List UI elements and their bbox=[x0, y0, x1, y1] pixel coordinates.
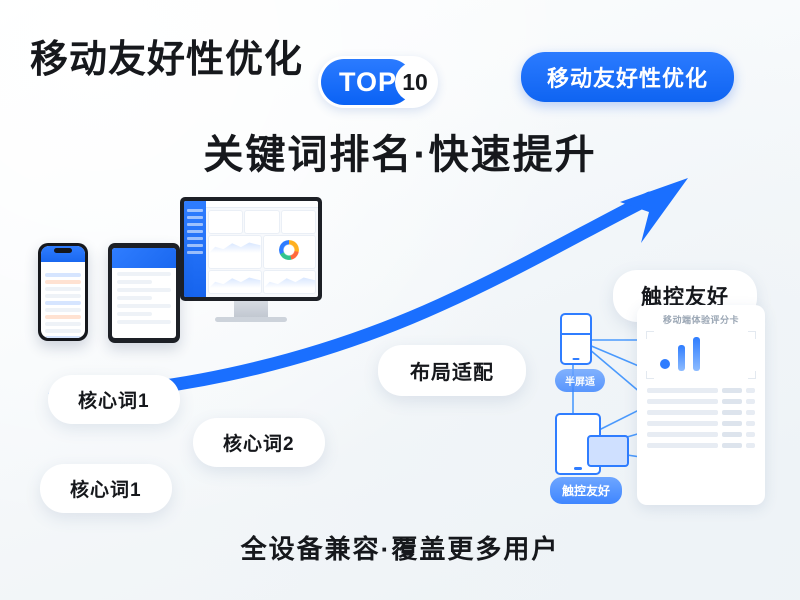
callout-layout: 布局适配 bbox=[378, 345, 526, 396]
top-rank-badge: TOP 10 bbox=[318, 56, 438, 108]
phone-mockup bbox=[38, 243, 88, 341]
device-mockups bbox=[20, 185, 340, 385]
diagram-pill-bottom: 触控友好 bbox=[550, 477, 622, 504]
top-badge-number: 10 bbox=[395, 62, 435, 102]
tablet-mockup bbox=[108, 243, 180, 343]
score-card-title: 移动端体验评分卡 bbox=[646, 313, 756, 326]
header-pill: 移动友好性优化 bbox=[521, 52, 734, 102]
diagram-phone-icon bbox=[560, 313, 592, 365]
donut-chart bbox=[279, 240, 299, 260]
keyword-pill: 核心词2 bbox=[193, 418, 325, 467]
page-title: 移动友好性优化 bbox=[30, 28, 303, 83]
poster-canvas: 移动友好性优化 TOP 10 移动友好性优化 关键词排名·快速提升 bbox=[0, 0, 800, 600]
chart-dot-icon bbox=[660, 359, 670, 369]
keyword-pill: 核心词1 bbox=[48, 375, 180, 424]
footer-caption: 全设备兼容·覆盖更多用户 bbox=[0, 529, 800, 566]
score-row bbox=[646, 429, 756, 440]
score-card-chart bbox=[646, 331, 756, 379]
score-card: 移动端体验评分卡 bbox=[637, 305, 765, 505]
score-row bbox=[646, 418, 756, 429]
score-row bbox=[646, 396, 756, 407]
diagram-pill-top: 半屏适 bbox=[555, 369, 605, 392]
score-row bbox=[646, 385, 756, 396]
desktop-mockup bbox=[180, 197, 322, 313]
score-row bbox=[646, 440, 756, 451]
keyword-pill: 核心词1 bbox=[40, 464, 172, 513]
dashboard-sidebar bbox=[184, 201, 206, 297]
diagram-laptop-icon bbox=[587, 435, 629, 467]
score-row bbox=[646, 407, 756, 418]
